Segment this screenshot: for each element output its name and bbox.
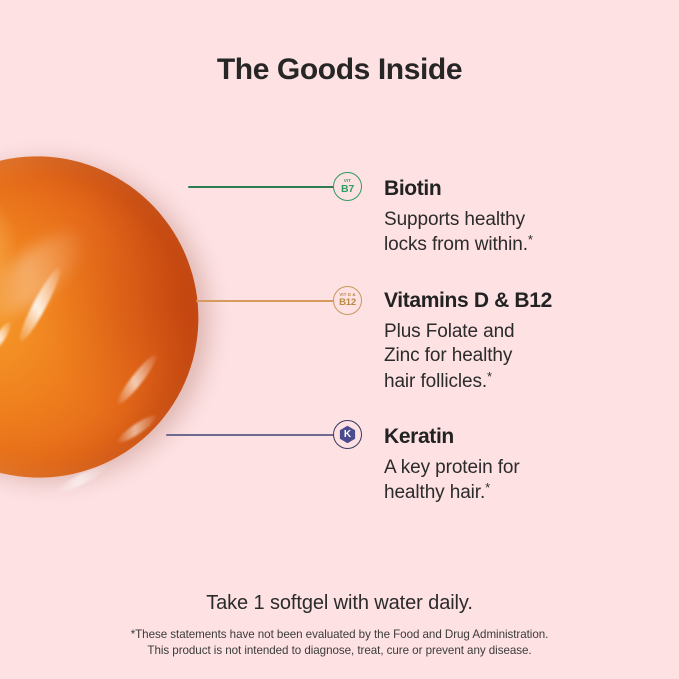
badge-main-label: B7: [341, 184, 354, 195]
body-line-last: healthy hair.*: [384, 480, 520, 505]
body-line-text: healthy hair.: [384, 482, 485, 503]
capsule-highlight-glow: [0, 219, 95, 331]
hexagon-shape: K: [338, 425, 357, 444]
body-line: Supports healthy: [384, 208, 533, 232]
product-infographic: The Goods Inside VIT B7 Biotin Supports …: [0, 0, 679, 679]
ingredient-body-vitamins-d-b12: Plus Folate and Zinc for healthy hair fo…: [384, 320, 515, 394]
ingredient-heading-keratin: Keratin: [384, 425, 454, 448]
capsule-highlight-bottom: [55, 462, 110, 496]
directions-text: Take 1 softgel with water daily.: [0, 592, 679, 615]
vitamin-d-b12-badge-icon: VIT D & B12: [333, 286, 362, 315]
badge-main-label: K: [344, 430, 351, 440]
capsule-highlight-secondary: [0, 320, 14, 354]
capsule-highlight-mid: [114, 352, 161, 408]
vitamin-b7-badge-icon: VIT B7: [333, 172, 362, 201]
capsule-shading: [0, 92, 263, 543]
badge-main-label: B12: [339, 298, 356, 308]
footnote-marker: *: [487, 369, 492, 384]
footnote-marker: *: [528, 232, 533, 247]
capsule-body: [0, 92, 263, 543]
ingredient-heading-biotin: Biotin: [384, 177, 441, 200]
page-title: The Goods Inside: [0, 52, 679, 88]
body-line: A key protein for: [384, 456, 520, 480]
disclaimer-line-2: This product is not intended to diagnose…: [0, 643, 679, 659]
softgel-capsule-image: [0, 156, 198, 478]
ingredient-heading-vitamins-d-b12: Vitamins D & B12: [384, 289, 552, 312]
footnote-marker: *: [485, 480, 490, 495]
disclaimer: *These statements have not been evaluate…: [0, 627, 679, 660]
capsule-highlight-lower: [115, 412, 159, 446]
leader-line-keratin: [166, 434, 336, 436]
capsule-highlight-primary: [15, 264, 66, 344]
body-line: Zinc for healthy: [384, 344, 515, 368]
leader-line-biotin: [188, 186, 336, 188]
keratin-hexagon-badge-icon: K: [333, 420, 362, 449]
body-line-last: hair follicles.*: [384, 369, 515, 394]
ingredient-body-biotin: Supports healthy locks from within.*: [384, 208, 533, 258]
ingredient-body-keratin: A key protein for healthy hair.*: [384, 456, 520, 506]
body-line: Plus Folate and: [384, 320, 515, 344]
body-line-last: locks from within.*: [384, 232, 533, 257]
disclaimer-line-1: *These statements have not been evaluate…: [0, 627, 679, 643]
body-line-text: hair follicles.: [384, 371, 487, 392]
body-line-text: locks from within.: [384, 234, 528, 255]
leader-line-vitamins-d-b12: [196, 300, 336, 302]
